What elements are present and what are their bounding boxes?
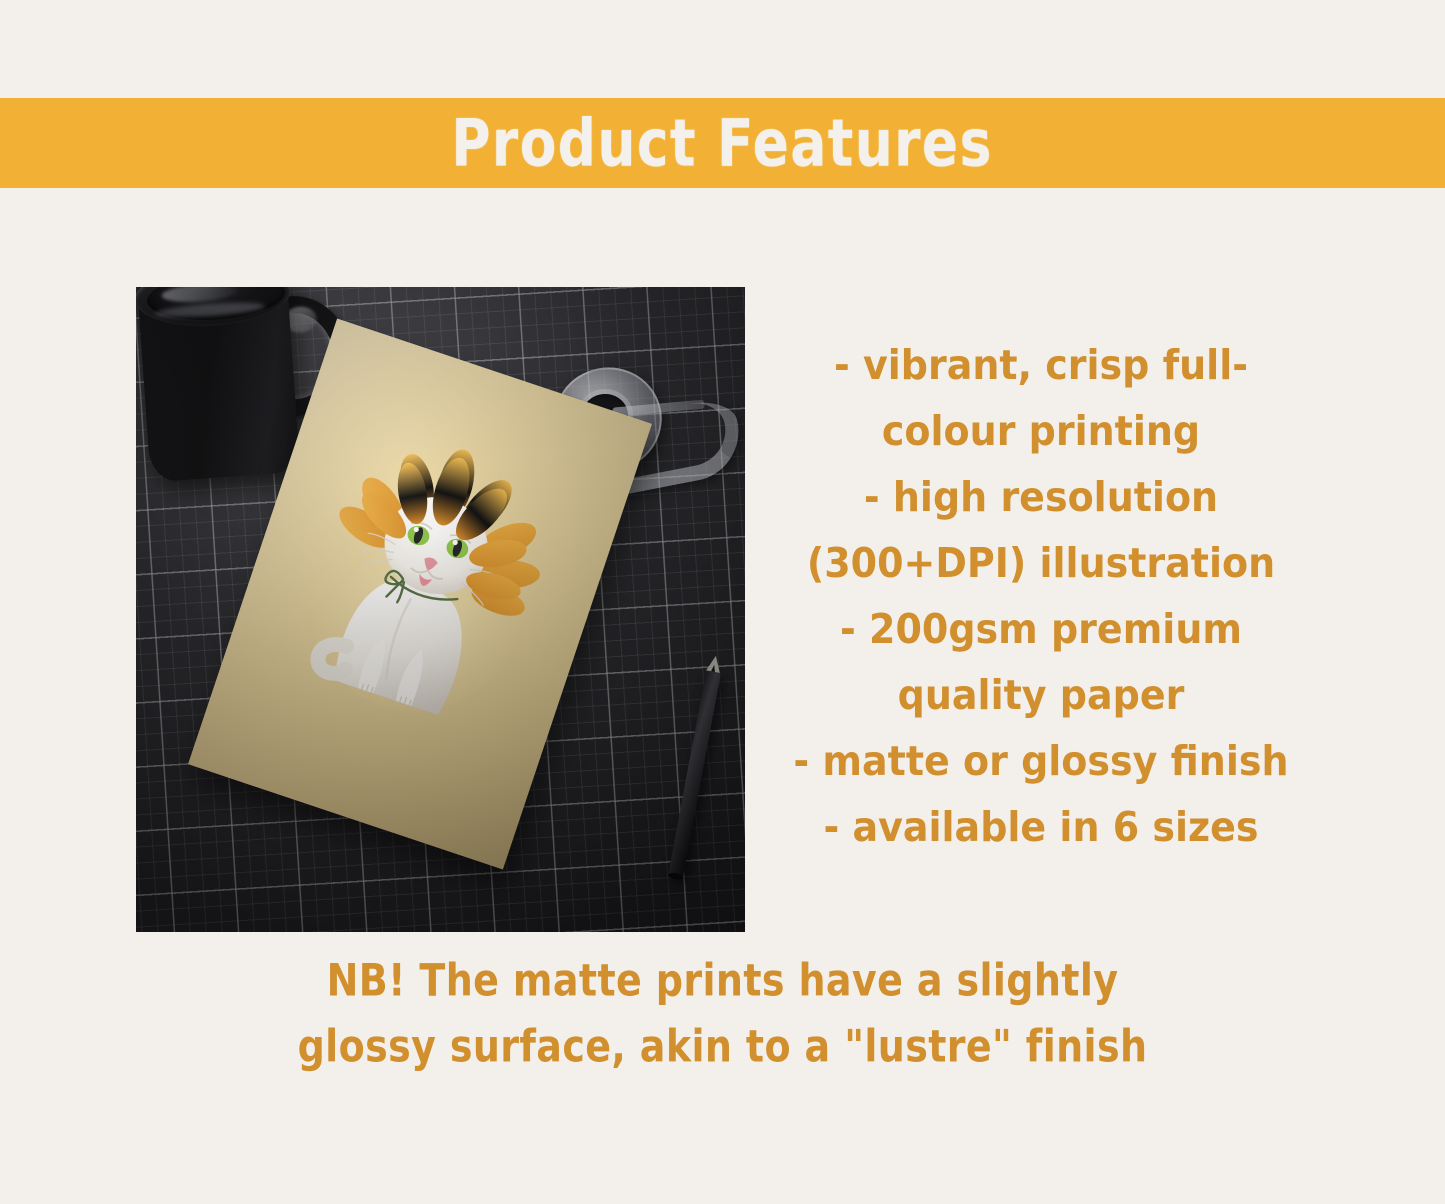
product-photo bbox=[136, 287, 745, 932]
matte-finish-note: NB! The matte prints have a slightly glo… bbox=[0, 948, 1445, 1080]
feature-item: - 200gsm premium bbox=[790, 593, 1292, 664]
feature-item: - matte or glossy finish bbox=[790, 725, 1292, 796]
feature-item: - high resolution bbox=[790, 461, 1292, 532]
product-features-banner: Product Features bbox=[0, 98, 1445, 188]
feature-item: (300+DPI) illustration bbox=[790, 527, 1292, 598]
feature-list: - vibrant, crisp full- colour printing -… bbox=[790, 332, 1292, 860]
coffee-mug bbox=[137, 287, 313, 492]
note-line: glossy surface, akin to a "lustre" finis… bbox=[36, 1010, 1409, 1084]
pencil-tip bbox=[706, 655, 723, 673]
feature-item: quality paper bbox=[790, 659, 1292, 730]
feature-item: colour printing bbox=[790, 395, 1292, 466]
page-title: Product Features bbox=[452, 111, 993, 176]
feature-item: - available in 6 sizes bbox=[790, 791, 1292, 862]
note-line: NB! The matte prints have a slightly bbox=[36, 944, 1409, 1018]
feature-item: - vibrant, crisp full- bbox=[790, 329, 1292, 400]
sunflower-cat-illustration bbox=[263, 404, 589, 749]
